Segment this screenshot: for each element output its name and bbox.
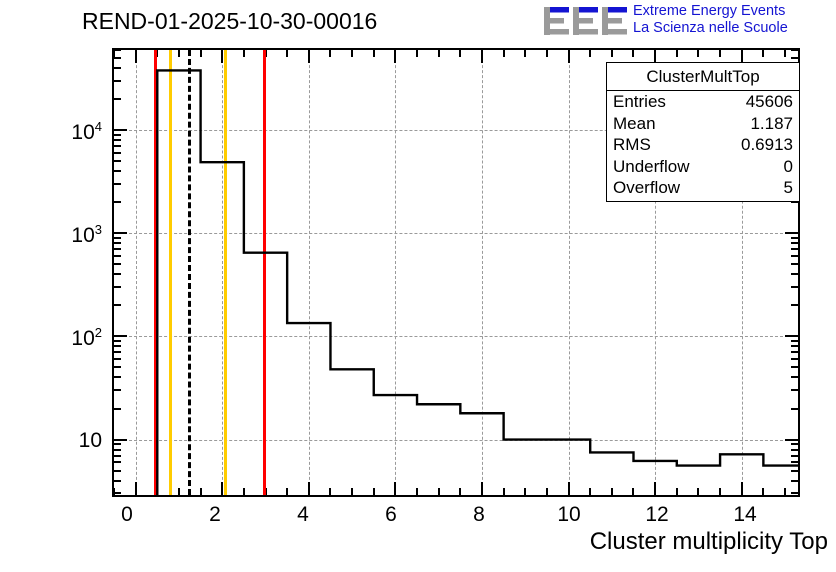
root-canvas: REND-01-2025-10-30-00016 [0,0,836,572]
stats-value-rms: 0.6913 [741,134,793,156]
stats-row-rms: RMS 0.6913 [607,134,799,156]
stats-box: ClusterMultTop Entries 45606 Mean 1.187 … [606,62,800,202]
page-title: REND-01-2025-10-30-00016 [82,8,377,35]
stats-value-overflow: 5 [784,177,793,199]
x-tick-label-4: 4 [285,503,321,527]
stats-key-overflow: Overflow [613,177,680,199]
x-tick-label-2: 2 [197,503,233,527]
stats-value-entries: 45606 [746,91,793,113]
stats-key-rms: RMS [613,134,651,156]
x-axis-title: Cluster multiplicity Top [590,528,828,556]
eee-logo-line2: La Scienza nelle Scuole [633,20,788,37]
stats-value-mean: 1.187 [750,113,793,135]
x-tick-label-8: 8 [461,503,497,527]
stats-row-entries: Entries 45606 [607,91,799,113]
y-tick-label-10e2: 102 [32,325,102,351]
stats-title: ClusterMultTop [607,63,799,91]
stats-row-overflow: Overflow 5 [607,177,799,199]
y-tick-label-10e1: 10 [40,429,102,453]
x-tick-label-14: 14 [722,503,768,527]
eee-logo-mark [543,5,629,37]
stats-key-mean: Mean [613,113,656,135]
y-tick-label-10e4: 104 [32,119,102,145]
stats-value-underflow: 0 [784,156,793,178]
x-tick-label-6: 6 [373,503,409,527]
x-tick-label-12: 12 [634,503,680,527]
eee-logo-text: Extreme Energy Events La Scienza nelle S… [633,3,788,37]
x-tick-label-10: 10 [546,503,592,527]
y-tick-label-10e3: 103 [32,222,102,248]
stats-row-underflow: Underflow 0 [607,156,799,178]
stats-row-mean: Mean 1.187 [607,113,799,135]
stats-key-underflow: Underflow [613,156,690,178]
eee-logo: Extreme Energy Events La Scienza nelle S… [543,2,835,42]
eee-logo-line1: Extreme Energy Events [633,3,788,20]
x-tick-label-0: 0 [109,503,145,527]
stats-key-entries: Entries [613,91,666,113]
